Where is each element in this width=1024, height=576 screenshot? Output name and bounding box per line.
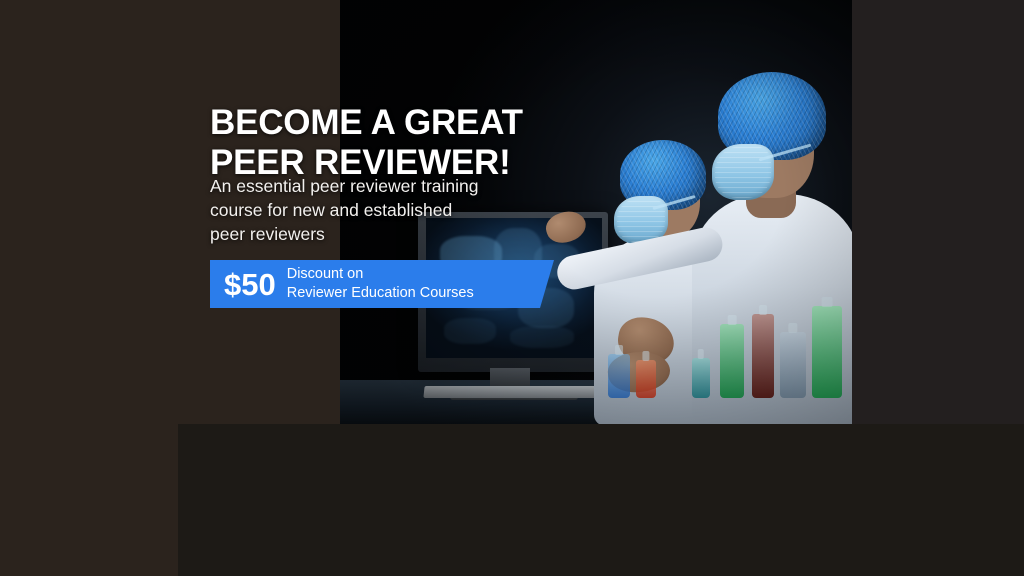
lab-bottle-green-1 (720, 324, 744, 398)
promo-banner: BECOME A GREAT PEER REVIEWER! An essenti… (0, 0, 1024, 576)
lab-bottle-blue (608, 354, 630, 398)
ribbon-tail (540, 260, 554, 308)
keyboard (423, 386, 604, 398)
lab-bottle-teal (692, 358, 710, 398)
page-title: BECOME A GREAT PEER REVIEWER! (210, 103, 523, 182)
background-bottom-panel (178, 424, 1024, 576)
discount-text-block: Discount on Reviewer Education Courses (287, 265, 474, 302)
subtitle-text: An essential peer reviewer training cour… (210, 175, 478, 246)
discount-line-2: Reviewer Education Courses (287, 284, 474, 303)
lab-bottle-green-2 (812, 306, 842, 398)
lab-bottle-red (636, 360, 656, 398)
lab-bottle-dark (752, 314, 774, 398)
lab-bottle-clear (780, 332, 806, 398)
discount-line-1: Discount on (287, 265, 474, 284)
discount-ribbon[interactable]: $50 Discount on Reviewer Education Cours… (210, 260, 540, 308)
background-right-panel (845, 0, 1024, 424)
discount-price: $50 (224, 269, 276, 300)
